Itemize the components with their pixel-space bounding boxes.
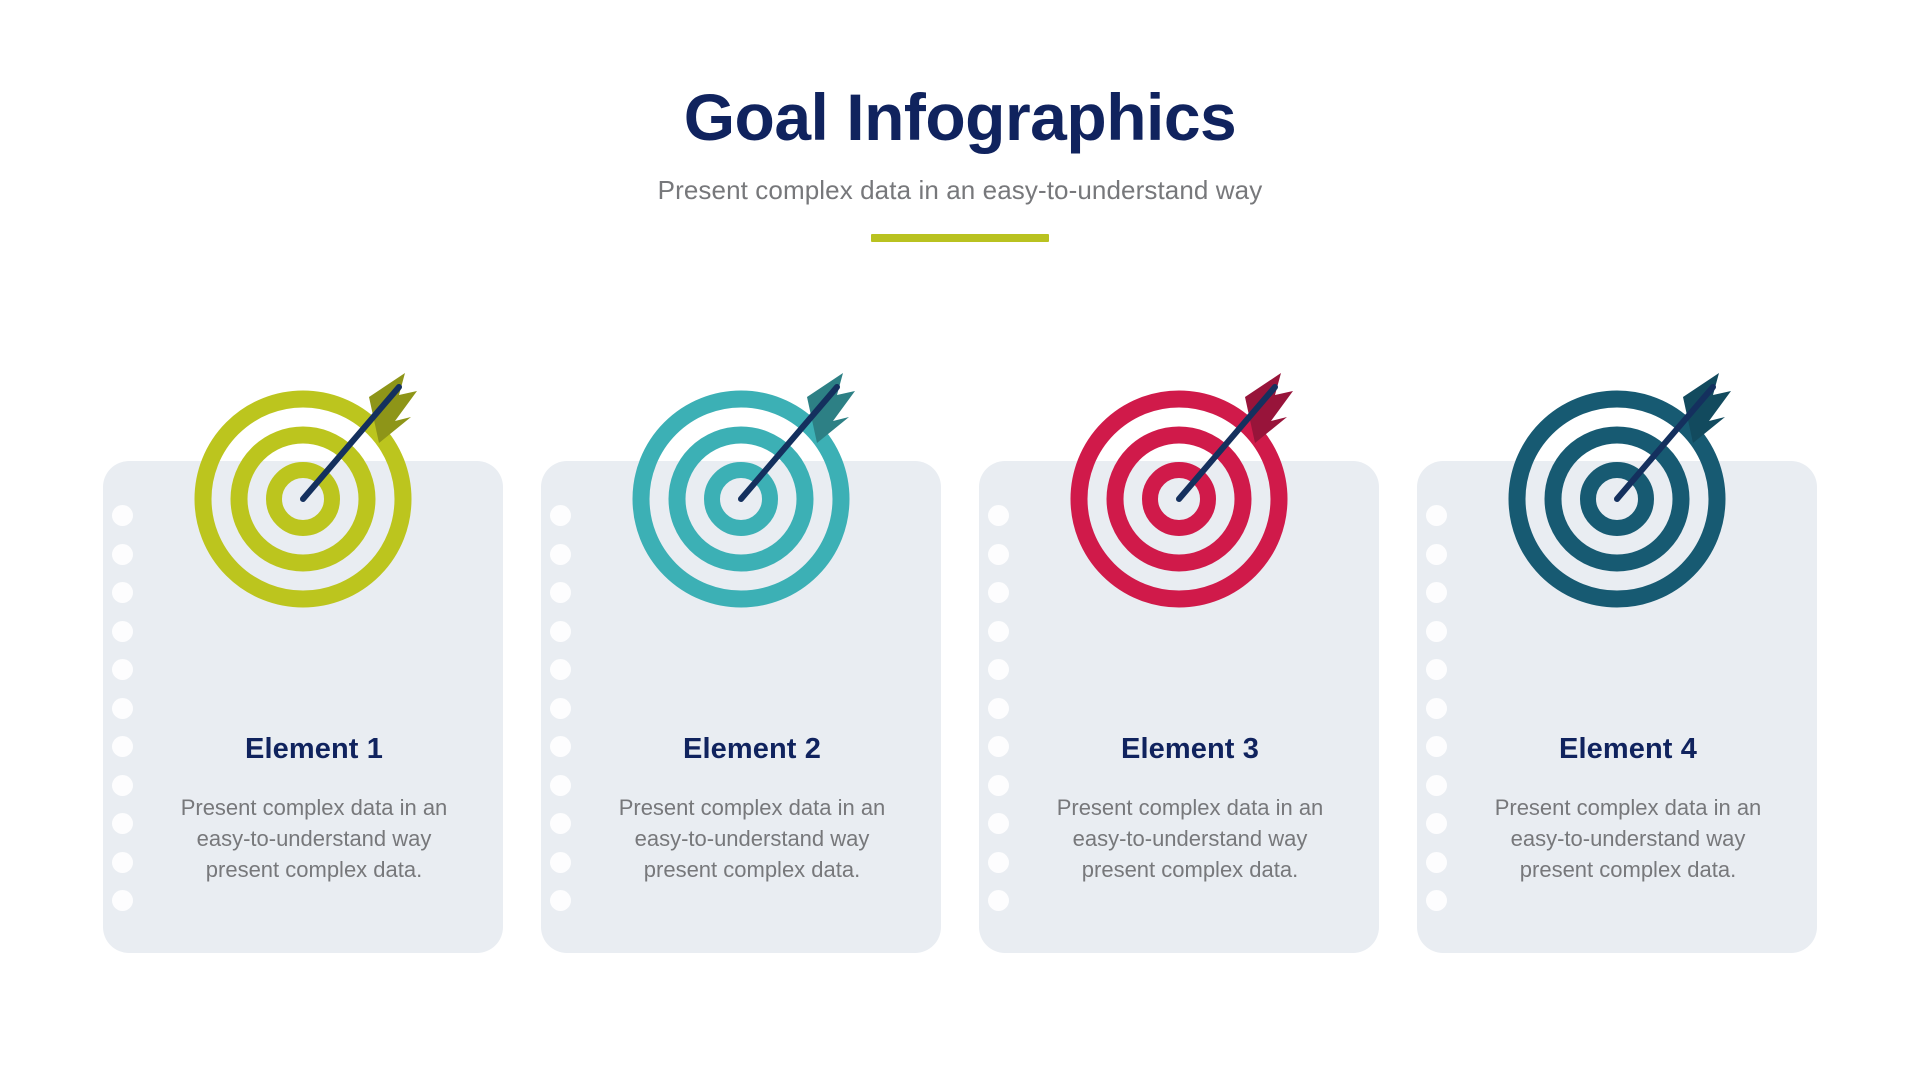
punch-hole <box>550 736 571 757</box>
punch-hole <box>550 659 571 680</box>
target-svg <box>1049 351 1309 611</box>
punch-hole <box>550 698 571 719</box>
target-with-arrow-icon <box>1049 351 1309 611</box>
punch-hole <box>112 852 133 873</box>
slide-header: Goal Infographics Present complex data i… <box>0 82 1920 242</box>
card-description: Present complex data in an easy-to-under… <box>1483 792 1773 886</box>
element-card[interactable]: Element 4Present complex data in an easy… <box>1417 461 1817 953</box>
punch-hole <box>1426 659 1447 680</box>
punch-hole <box>988 621 1009 642</box>
page-subtitle: Present complex data in an easy-to-under… <box>0 175 1920 206</box>
punch-hole <box>112 890 133 911</box>
element-card[interactable]: Element 3Present complex data in an easy… <box>979 461 1379 953</box>
punch-hole <box>988 544 1009 565</box>
card-text-block: Element 3Present complex data in an easy… <box>1019 733 1361 886</box>
punch-hole <box>988 505 1009 526</box>
punch-hole <box>1426 505 1447 526</box>
punch-hole <box>1426 813 1447 834</box>
element-cards-row: Element 1Present complex data in an easy… <box>103 461 1822 953</box>
punch-hole <box>112 505 133 526</box>
punch-hole <box>1426 621 1447 642</box>
punch-hole <box>112 582 133 603</box>
punch-hole <box>1426 544 1447 565</box>
punch-hole <box>1426 736 1447 757</box>
punch-hole <box>988 890 1009 911</box>
card-text-block: Element 2Present complex data in an easy… <box>581 733 923 886</box>
element-card[interactable]: Element 2Present complex data in an easy… <box>541 461 941 953</box>
punch-hole <box>112 544 133 565</box>
card-title: Element 2 <box>581 733 923 766</box>
target-svg <box>611 351 871 611</box>
card-description: Present complex data in an easy-to-under… <box>607 792 897 886</box>
punch-hole <box>112 736 133 757</box>
punch-hole <box>112 813 133 834</box>
slide-canvas: Goal Infographics Present complex data i… <box>0 0 1920 1080</box>
target-svg <box>1487 351 1747 611</box>
punch-hole <box>988 582 1009 603</box>
punch-hole <box>988 813 1009 834</box>
card-description: Present complex data in an easy-to-under… <box>169 792 459 886</box>
punch-holes <box>1420 505 1452 911</box>
punch-hole <box>988 736 1009 757</box>
card-title: Element 1 <box>143 733 485 766</box>
punch-hole <box>988 659 1009 680</box>
punch-hole <box>550 505 571 526</box>
punch-hole <box>1426 582 1447 603</box>
accent-underline <box>871 234 1049 242</box>
punch-hole <box>1426 890 1447 911</box>
punch-hole <box>550 775 571 796</box>
punch-hole <box>1426 698 1447 719</box>
punch-hole <box>988 775 1009 796</box>
punch-hole <box>112 621 133 642</box>
punch-holes <box>982 505 1014 911</box>
card-description: Present complex data in an easy-to-under… <box>1045 792 1335 886</box>
target-svg <box>173 351 433 611</box>
target-with-arrow-icon <box>611 351 871 611</box>
punch-hole <box>112 775 133 796</box>
punch-hole <box>988 698 1009 719</box>
punch-hole <box>988 852 1009 873</box>
punch-hole <box>550 582 571 603</box>
punch-hole <box>112 698 133 719</box>
punch-hole <box>550 852 571 873</box>
card-title: Element 4 <box>1457 733 1799 766</box>
element-card[interactable]: Element 1Present complex data in an easy… <box>103 461 503 953</box>
punch-hole <box>550 813 571 834</box>
card-text-block: Element 4Present complex data in an easy… <box>1457 733 1799 886</box>
card-title: Element 3 <box>1019 733 1361 766</box>
punch-hole <box>550 890 571 911</box>
page-title: Goal Infographics <box>0 82 1920 153</box>
card-text-block: Element 1Present complex data in an easy… <box>143 733 485 886</box>
punch-hole <box>1426 775 1447 796</box>
target-with-arrow-icon <box>173 351 433 611</box>
punch-holes <box>106 505 138 911</box>
punch-holes <box>544 505 576 911</box>
punch-hole <box>550 544 571 565</box>
punch-hole <box>112 659 133 680</box>
punch-hole <box>1426 852 1447 873</box>
target-with-arrow-icon <box>1487 351 1747 611</box>
punch-hole <box>550 621 571 642</box>
